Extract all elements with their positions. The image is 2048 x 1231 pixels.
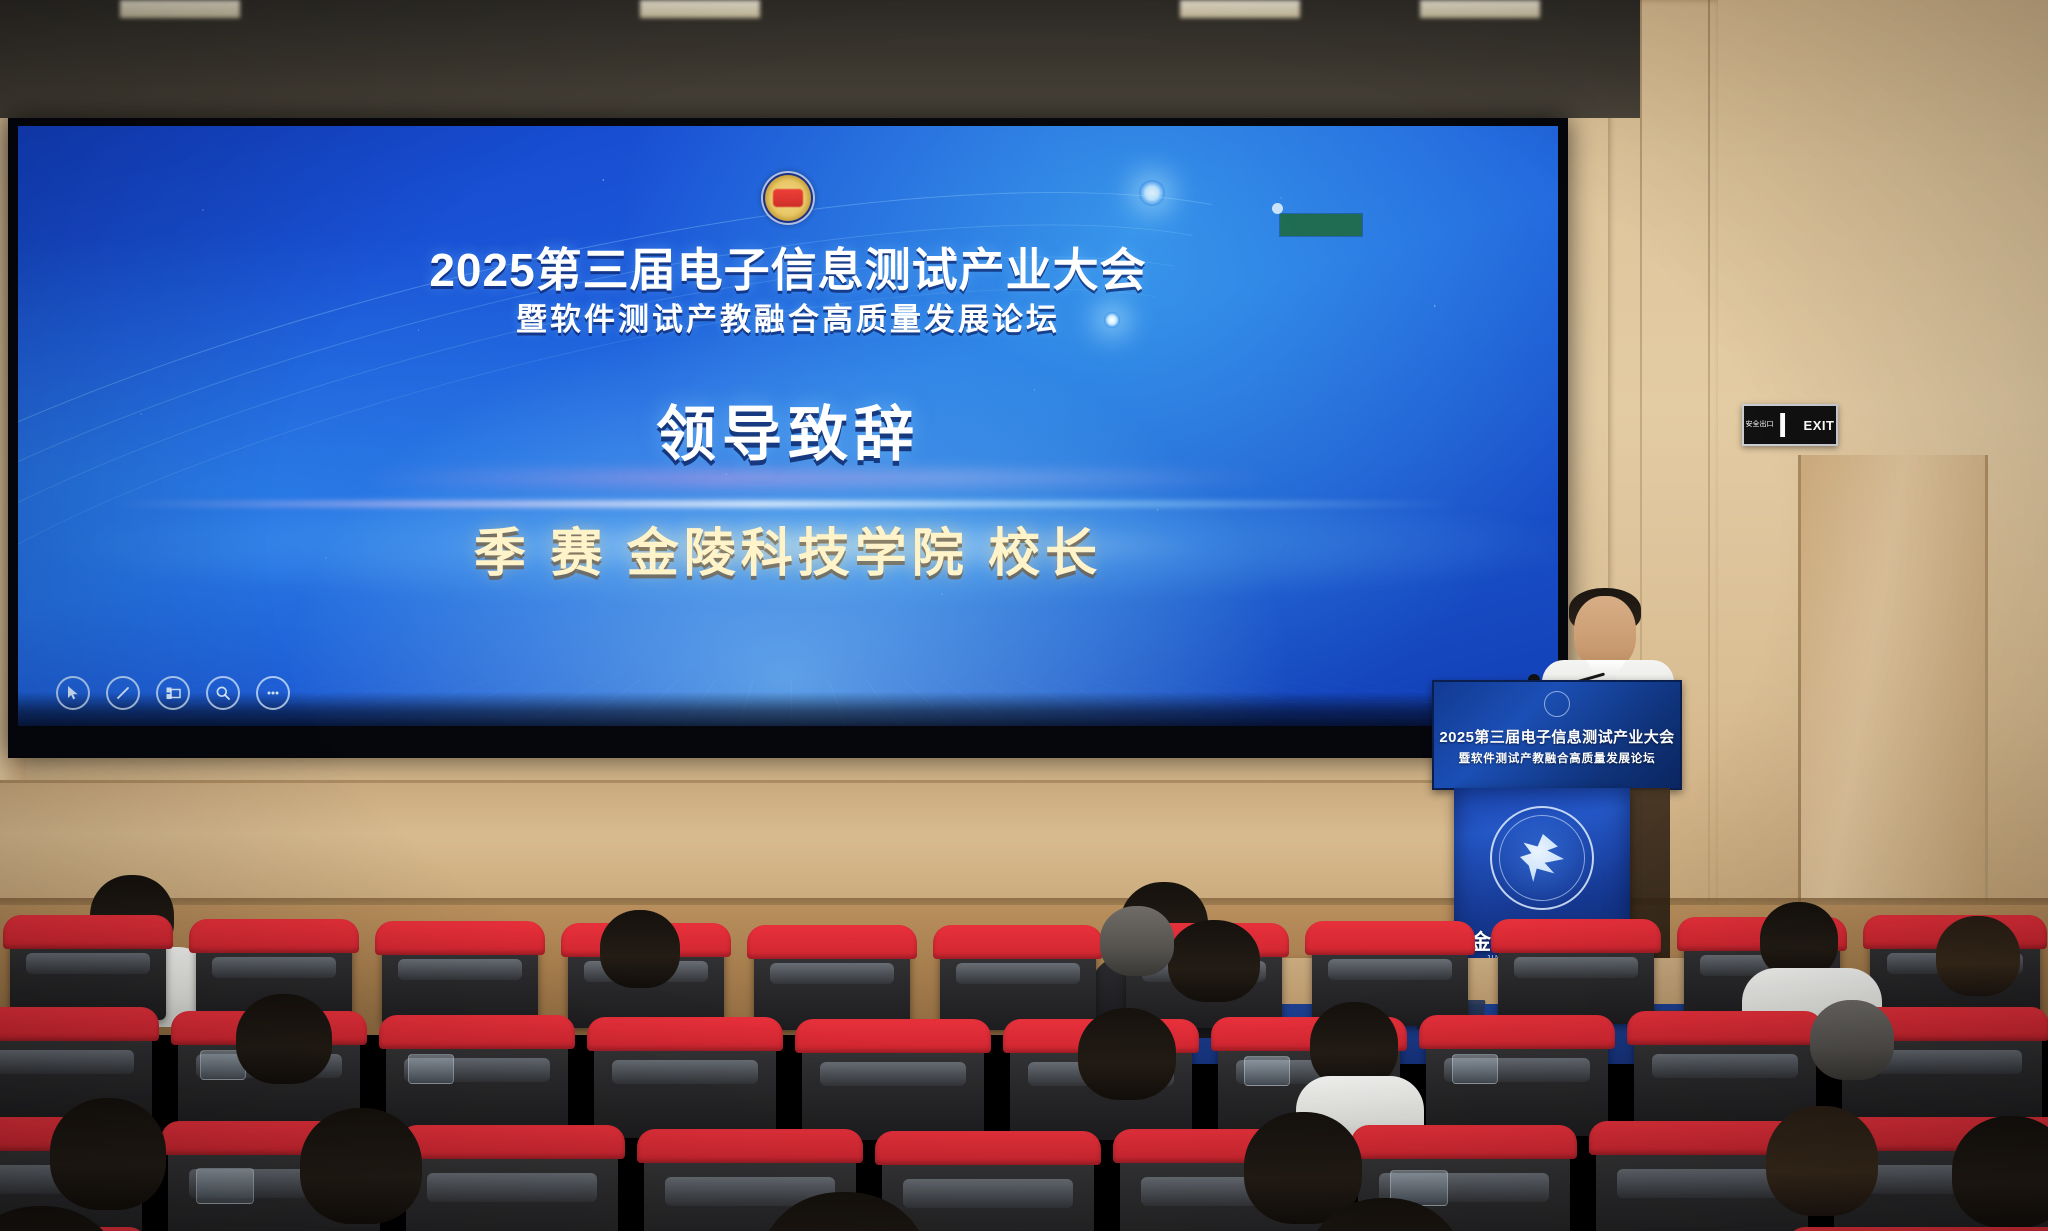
green-overlay-block: [1280, 214, 1362, 236]
seat: [406, 1134, 618, 1231]
podium-banner: 2025第三届电子信息测试产业大会 暨软件测试产教融合高质量发展论坛: [1432, 680, 1682, 790]
ceiling-light: [120, 0, 240, 18]
slide-navigator-icon[interactable]: [156, 676, 190, 710]
more-options-icon[interactable]: [256, 676, 290, 710]
pointer-icon[interactable]: [56, 676, 90, 710]
exit-sign-label-en: EXIT: [1804, 418, 1835, 433]
audience-person: [1306, 1198, 1476, 1231]
seat-tray: [1244, 1056, 1290, 1086]
audience-person: [236, 994, 346, 1104]
ceiling-light: [640, 0, 760, 18]
audience-person: [1100, 906, 1200, 1006]
light-streak: [110, 501, 1465, 507]
pen-icon[interactable]: [106, 676, 140, 710]
slide-title-line1: 2025第三届电子信息测试产业大会: [18, 234, 1558, 300]
seat-tray: [196, 1168, 254, 1204]
seat-tray: [408, 1054, 454, 1084]
speaker-head: [1574, 596, 1636, 670]
running-person-icon: [1778, 413, 1800, 437]
exit-sign-label-cn: 安全出口: [1746, 421, 1774, 428]
seat: [802, 1028, 984, 1140]
podium-banner-line2: 暨软件测试产教融合高质量发展论坛: [1434, 750, 1680, 766]
magnifier-icon[interactable]: [206, 676, 240, 710]
seat: [754, 934, 910, 1030]
audience-person: [600, 910, 700, 1010]
slide-heading: 领导致辞: [18, 386, 1558, 473]
audience-person: [0, 1206, 130, 1231]
ceiling-light: [1180, 0, 1300, 18]
seat-tray: [1452, 1054, 1498, 1084]
seat: [1498, 928, 1654, 1024]
seat: [594, 1026, 776, 1138]
slide-speaker-line: 季 赛 金陵科技学院 校长: [18, 511, 1558, 586]
presentation-slide[interactable]: 2025第三届电子信息测试产业大会 暨软件测试产教融合高质量发展论坛 领导致辞 …: [18, 126, 1558, 726]
podium-emblem-icon: [1544, 691, 1570, 717]
audience-person: [1810, 1000, 1920, 1110]
seat: [940, 934, 1096, 1030]
presenter-toolbar[interactable]: [56, 676, 290, 710]
conference-emblem-icon: [761, 171, 815, 225]
emergency-exit-sign: 安全出口 EXIT: [1742, 404, 1838, 446]
audience-seating: [0, 930, 2048, 1231]
audience-person: [1310, 1002, 1420, 1112]
seat: [382, 930, 538, 1026]
audience-person: [300, 1108, 430, 1231]
audience-person: [1936, 916, 2036, 1016]
ceiling-light: [1420, 0, 1540, 18]
led-screen-frame: 2025第三届电子信息测试产业大会 暨软件测试产教融合高质量发展论坛 领导致辞 …: [8, 118, 1568, 758]
audience-person: [1952, 1116, 2048, 1231]
ceiling: [0, 0, 1640, 118]
audience-person: [1766, 1106, 1896, 1231]
slide-title-line2: 暨软件测试产教融合高质量发展论坛: [18, 294, 1558, 339]
audience-person: [1760, 902, 1860, 1002]
audience-person: [1078, 1008, 1188, 1118]
podium-banner-line1: 2025第三届电子信息测试产业大会: [1434, 726, 1680, 747]
auditorium-scene: 2025第三届电子信息测试产业大会 暨软件测试产教融合高质量发展论坛 领导致辞 …: [0, 0, 2048, 1231]
seat: [10, 924, 166, 1020]
side-door: [1798, 455, 1988, 905]
jinling-institute-logo: [1490, 806, 1594, 910]
light-glow: [1139, 180, 1165, 206]
pink-light-streak: [357, 471, 1281, 485]
audience-person: [760, 1192, 930, 1231]
